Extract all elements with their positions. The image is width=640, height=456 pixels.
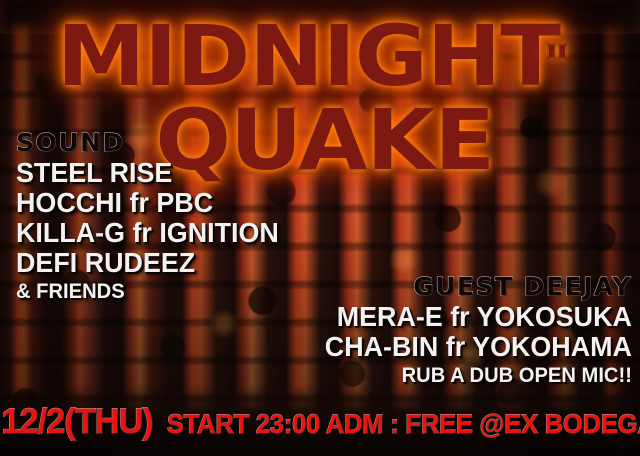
guest-deejay-block: GUEST DEEJAY MERA-E fr YOKOSUKA CHA-BIN … — [312, 272, 632, 389]
guest-section-header: GUEST DEEJAY — [312, 272, 632, 301]
sound-act-1: STEEL RISE — [16, 158, 279, 188]
event-info-line: 12/2(THU)START 23:00 ADM : FREE @EX BODE… — [0, 402, 640, 442]
sound-extra-friends: & FRIENDS — [16, 279, 279, 304]
title-text-midnight: MIDNIGHT — [56, 14, 559, 98]
title-tick-mark: " — [545, 40, 570, 86]
flyer-poster: MIDNIGHT"QUAKE SOUND STEEL RISE HOCCHI f… — [0, 0, 640, 456]
guest-extra-open-mic: RUB A DUB OPEN MIC!! — [325, 363, 632, 388]
event-details: START 23:00 ADM : FREE @EX BODEGA — [167, 409, 640, 440]
guest-act-1: MERA-E fr YOKOSUKA — [325, 302, 632, 332]
event-date: 12/2(THU) — [2, 402, 153, 442]
sound-act-2: HOCCHI fr PBC — [16, 188, 279, 218]
sound-section-header: SOUND — [16, 128, 290, 157]
sound-lineup-block: SOUND STEEL RISE HOCCHI fr PBC KILLA-G f… — [16, 128, 290, 304]
sound-act-4: DEFI RUDEEZ — [16, 248, 279, 278]
guest-act-2: CHA-BIN fr YOKOHAMA — [325, 332, 632, 362]
sound-act-3: KILLA-G fr IGNITION — [16, 218, 279, 248]
